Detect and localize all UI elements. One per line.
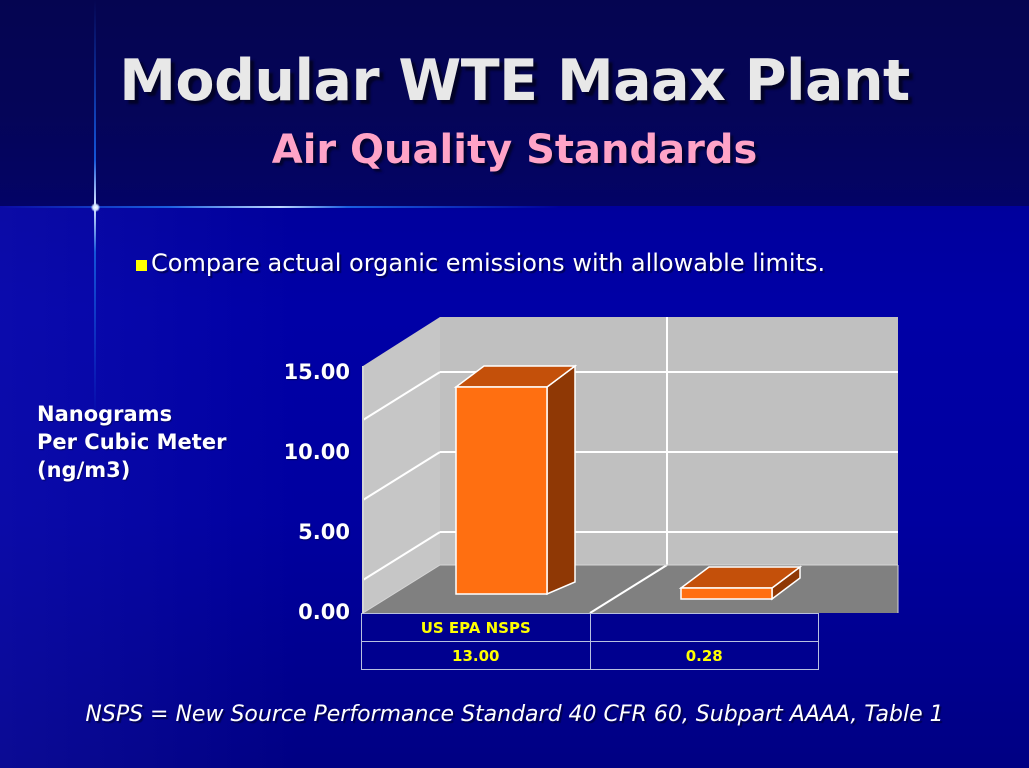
chart-floor — [363, 565, 898, 613]
table-row-values: 13.00 0.28 — [362, 642, 819, 670]
table-row-categories: US EPA NSPS — [362, 614, 819, 642]
bullet-item: Compare actual organic emissions with al… — [136, 249, 825, 277]
table-cell-value-2: 0.28 — [590, 642, 819, 670]
y-axis-title-line-3: (ng/m3) — [37, 456, 226, 484]
y-tick-label-10: 10.00 — [270, 440, 350, 464]
y-tick-label-5: 5.00 — [270, 520, 350, 544]
table-cell-category-2 — [590, 614, 819, 642]
bar-1-front-face — [456, 387, 547, 594]
y-axis-title-line-1: Nanograms — [37, 400, 226, 428]
y-axis-title: Nanograms Per Cubic Meter (ng/m3) — [37, 400, 226, 484]
chart-data-table: US EPA NSPS 13.00 0.28 — [361, 613, 819, 670]
sparkle-horizontal-ray — [0, 206, 560, 208]
bar-2-front-face — [681, 588, 772, 599]
footnote: NSPS = New Source Performance Standard 4… — [0, 702, 1029, 727]
y-tick-label-0: 0.00 — [270, 600, 350, 624]
slide: Modular WTE Maax Plant Air Quality Stand… — [0, 0, 1029, 768]
bullet-item-label: Compare actual organic emissions with al… — [151, 249, 825, 277]
slide-subtitle: Air Quality Standards — [0, 127, 1029, 173]
square-bullet-icon — [136, 260, 147, 271]
table-cell-category-1: US EPA NSPS — [362, 614, 591, 642]
y-axis-title-line-2: Per Cubic Meter — [37, 428, 226, 456]
sparkle-core — [91, 203, 100, 212]
table-cell-value-1: 13.00 — [362, 642, 591, 670]
slide-title: Modular WTE Maax Plant — [0, 48, 1029, 114]
chart-left-wall — [363, 317, 440, 613]
y-tick-label-15: 15.00 — [270, 360, 350, 384]
bar-1-side-face — [547, 366, 575, 594]
